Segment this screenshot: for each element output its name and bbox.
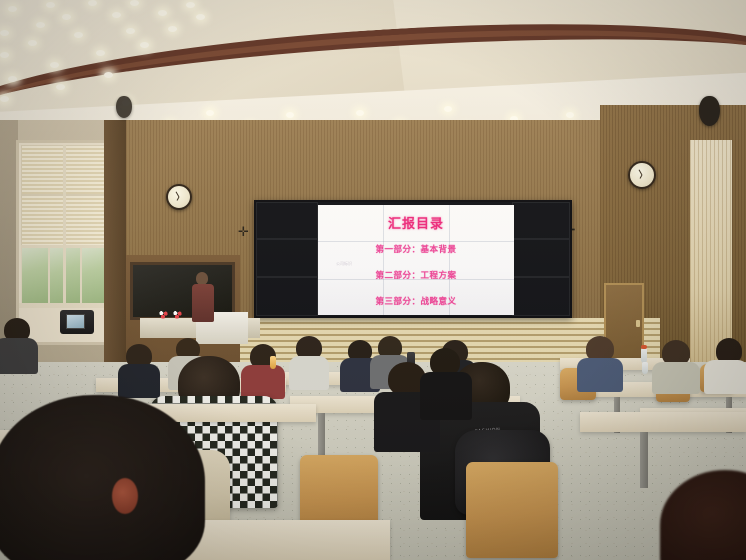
video-wall-panel — [256, 239, 318, 277]
downlight — [104, 72, 113, 78]
desk — [580, 412, 746, 432]
window-pane — [21, 247, 49, 305]
window-mullion — [21, 245, 109, 248]
downlight — [0, 52, 9, 58]
downlight — [36, 22, 45, 28]
downlight — [74, 32, 83, 38]
panel-seam — [318, 241, 514, 242]
chair-back[interactable] — [466, 462, 558, 558]
downlight — [206, 110, 214, 116]
window-mullion — [63, 145, 66, 305]
downlight — [186, 2, 195, 8]
wall-speaker-left — [116, 96, 132, 118]
presenter — [192, 272, 214, 322]
video-wall-panel — [512, 202, 570, 239]
slide-line-2: 第二部分：工程方案 — [318, 269, 514, 281]
door-handle[interactable] — [636, 320, 640, 327]
downlight — [62, 14, 71, 20]
lecture-hall-photo: ✛ ✛ 汇报目录 公司标识 第一部分：基本背景 第二部分：工程方案 第三部分：战… — [0, 0, 746, 560]
presentation-slide: 汇报目录 公司标识 第一部分：基本背景 第二部分：工程方案 第三部分：战略意义 — [318, 205, 514, 315]
downlight — [286, 112, 294, 118]
video-wall-panel — [512, 239, 570, 277]
downlight — [130, 0, 139, 6]
wall-clock-left — [166, 184, 192, 210]
window-blind[interactable] — [21, 145, 65, 195]
window-blind[interactable] — [21, 195, 65, 247]
person-torso — [577, 358, 623, 392]
downlight — [8, 76, 17, 82]
downlight — [158, 10, 167, 16]
downlight — [50, 62, 59, 68]
slide-line-1: 第一部分：基本背景 — [318, 243, 514, 255]
person-torso — [652, 362, 700, 394]
person-foreground-ear — [112, 478, 138, 514]
wall-cross-fixture-left: ✛ — [238, 228, 249, 237]
downlight — [8, 6, 17, 12]
downlight — [88, 0, 97, 6]
video-wall-panel — [256, 277, 318, 316]
person-torso — [289, 356, 329, 390]
window-sill — [19, 303, 111, 308]
downlight — [566, 112, 574, 118]
bottle-cap — [641, 345, 647, 349]
downlight — [28, 40, 37, 46]
downlight — [0, 30, 9, 36]
person-torso — [420, 372, 472, 420]
downlight — [140, 42, 149, 48]
downlight — [168, 26, 177, 32]
slide-watermark: 公司标识 — [336, 261, 352, 267]
wall-clock-right — [628, 161, 656, 189]
slide-title: 汇报目录 — [318, 213, 514, 232]
water-bottle — [642, 362, 648, 374]
video-wall-panel — [256, 202, 318, 239]
flower-arrangement — [172, 310, 183, 319]
left-pillar — [104, 120, 126, 375]
downlight — [0, 96, 9, 102]
downlight — [126, 28, 135, 34]
window-blind[interactable] — [65, 145, 109, 195]
downlight — [112, 12, 121, 18]
illuminated-wall-panel — [690, 140, 732, 370]
slide-line-3: 第三部分：战略意义 — [318, 295, 514, 307]
flower-arrangement — [158, 310, 169, 319]
desk-leg — [640, 432, 648, 488]
presenter-body — [192, 284, 214, 322]
downlight — [56, 84, 65, 90]
camcorder-screen — [66, 314, 85, 329]
downlight — [46, 2, 55, 8]
person-torso — [0, 338, 38, 374]
downlight — [96, 50, 105, 56]
window-blind[interactable] — [65, 195, 109, 247]
downlight — [356, 110, 364, 116]
camcorder — [60, 310, 94, 334]
video-wall-panel — [512, 277, 570, 316]
video-wall-display[interactable]: 汇报目录 公司标识 第一部分：基本背景 第二部分：工程方案 第三部分：战略意义 — [254, 200, 572, 318]
water-bottle — [641, 348, 647, 363]
person-foreground — [0, 395, 205, 560]
wall-speaker-right — [699, 96, 720, 126]
downlight — [444, 106, 452, 112]
person-torso — [704, 360, 746, 394]
downlight — [196, 14, 205, 20]
